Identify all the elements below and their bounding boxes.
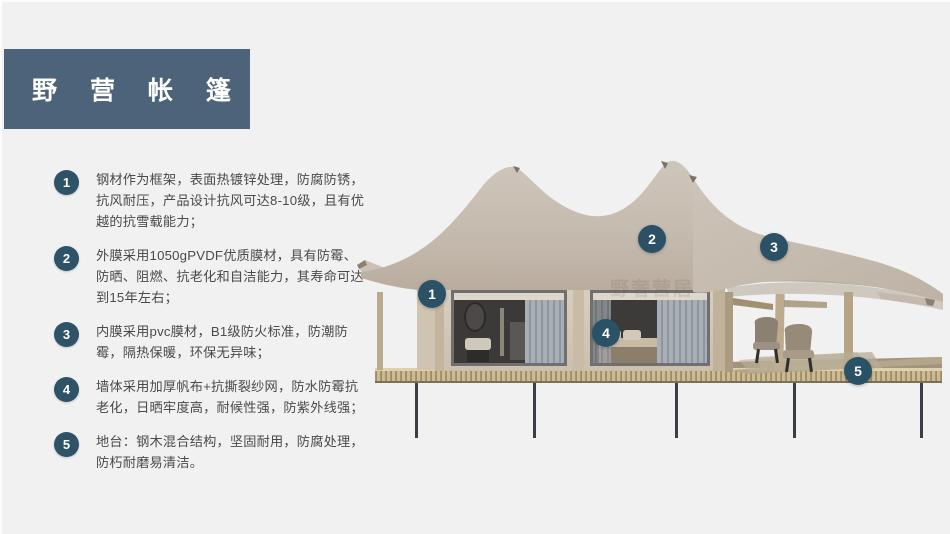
feature-badge-3: 3 [54,322,79,347]
slide-page: 野 营 帐 篷 1 钢材作为框架，表面热镀锌处理，防腐防锈，抗风耐压，产品设计抗… [0,0,950,534]
feature-item-2: 2 外膜采用1050gPVDF优质膜材，具有防霉、防晒、阻燃、抗老化和自洁能力，… [54,245,384,308]
feature-item-3: 3 内膜采用pvc膜材，B1级防火标准，防潮防霉，隔热保暖，环保无异味； [54,321,384,363]
page-title: 野 营 帐 篷 [4,71,244,107]
feature-text-5: 地台：钢木混合结构，坚固耐用，防腐处理，防朽耐磨易清洁。 [96,431,368,473]
feature-item-5: 5 地台：钢木混合结构，坚固耐用，防腐处理，防朽耐磨易清洁。 [54,431,384,473]
image-marker-5: 5 [844,357,872,385]
image-marker-2: 2 [638,225,666,253]
image-marker-1: 1 [418,280,446,308]
feature-list: 1 钢材作为框架，表面热镀锌处理，防腐防锈，抗风耐压，产品设计抗风可达8-10级… [54,169,384,486]
feature-item-1: 1 钢材作为框架，表面热镀锌处理，防腐防锈，抗风耐压，产品设计抗风可达8-10级… [54,169,384,232]
feature-badge-2: 2 [54,246,79,271]
image-marker-3: 3 [760,233,788,261]
feature-badge-5: 5 [54,432,79,457]
tent-illustration [357,142,950,472]
feature-text-4: 墙体采用加厚帆布+抗撕裂纱网，防水防霉抗老化，日晒牢度高，耐候性强，防紫外线强； [96,376,368,418]
feature-badge-4: 4 [54,377,79,402]
image-marker-4: 4 [592,319,620,347]
feature-text-1: 钢材作为框架，表面热镀锌处理，防腐防锈，抗风耐压，产品设计抗风可达8-10级，且… [96,169,368,232]
feature-text-2: 外膜采用1050gPVDF优质膜材，具有防霉、防晒、阻燃、抗老化和自洁能力，其寿… [96,245,368,308]
feature-text-3: 内膜采用pvc膜材，B1级防火标准，防潮防霉，隔热保暖，环保无异味； [96,321,368,363]
title-banner: 野 营 帐 篷 [4,49,250,129]
window-bathroom [451,290,567,366]
feature-item-4: 4 墙体采用加厚帆布+抗撕裂纱网，防水防霉抗老化，日晒牢度高，耐候性强，防紫外线… [54,376,384,418]
feature-badge-1: 1 [54,170,79,195]
